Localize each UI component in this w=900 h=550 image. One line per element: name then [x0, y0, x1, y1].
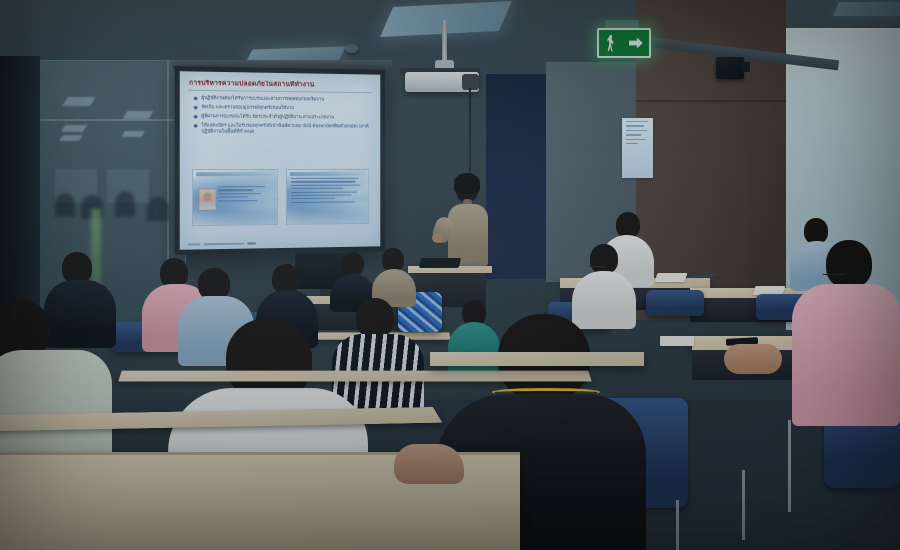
presentation-slide: การบริหารความปลอดภัยในสถานที่ทำงาน ผู้ปฏ… — [180, 71, 381, 250]
table-midground-center — [118, 371, 592, 382]
table-midground-right — [430, 352, 644, 366]
doc-line — [218, 193, 261, 194]
doc-text-lines — [291, 178, 364, 205]
slide-bullet-item: จัดเก็บ และตรวจสอบอุปกรณ์ทุกครั้งก่อนใช้… — [194, 104, 371, 111]
presenter-hand — [432, 233, 443, 243]
glasses-icon — [588, 262, 606, 267]
chair-leg-1 — [676, 500, 679, 550]
classroom-photo: การบริหารความปลอดภัยในสถานที่ทำงาน ผู้ปฏ… — [0, 0, 900, 550]
glass-reflection-light-3 — [59, 135, 82, 141]
chair-leg-3 — [788, 420, 791, 512]
slide-bullet-text: จัดเก็บ และตรวจสอบอุปกรณ์ทุกครั้งก่อนใช้… — [201, 104, 294, 111]
running-person-icon — [605, 35, 616, 52]
doc-line — [291, 194, 351, 196]
attendee-head — [590, 244, 618, 274]
poster-line — [626, 130, 647, 131]
slide-footer — [188, 242, 256, 245]
doc-line — [291, 198, 335, 200]
bullet-marker-icon — [194, 105, 198, 109]
glass-reflected-figure-1 — [55, 193, 75, 217]
attendee-hand-foreground — [394, 444, 464, 488]
poster-line — [626, 134, 641, 135]
doc-line — [218, 196, 248, 197]
slide-bullet-item: ผู้ที่ผ่านการอบรมจะได้รับ บัตรประจำตัวผู… — [194, 113, 371, 120]
attendee-hand-right — [724, 344, 782, 378]
slide-title: การบริหารความปลอดภัยในสถานที่ทำงาน — [189, 80, 372, 91]
glass-reflection-light-1 — [62, 97, 95, 106]
slide-footer-mark — [203, 243, 244, 246]
doc-line — [218, 200, 257, 202]
bullet-marker-icon — [194, 124, 198, 128]
notice-poster — [622, 118, 653, 178]
smoke-detector-icon — [345, 44, 358, 53]
glass-reflection-light-4 — [123, 111, 154, 119]
slide-certificate-image — [286, 169, 369, 225]
slide-title-divider — [188, 90, 372, 94]
arrow-right-icon — [629, 37, 643, 50]
poster-line — [626, 121, 648, 122]
slide-bullet-list: ผู้ปฏิบัติงานต้องได้รับการอบรมและผ่านการ… — [194, 95, 371, 138]
presenter-hair — [454, 173, 480, 193]
ceiling-light-4 — [833, 2, 900, 16]
hand — [724, 344, 782, 374]
poster-line — [626, 143, 638, 144]
bullet-marker-icon — [194, 96, 198, 100]
hand — [394, 444, 464, 484]
laptop-on-lectern — [419, 258, 461, 268]
doc-line — [218, 186, 266, 187]
wall-speaker-icon — [716, 57, 744, 79]
attendee-torso — [792, 284, 900, 426]
slide-bullet-item: ผู้ปฏิบัติงานต้องได้รับการอบรมและผ่านการ… — [194, 95, 371, 103]
slide-footer-mark — [247, 242, 256, 244]
emergency-exit-sign — [597, 28, 651, 58]
glass-reflected-figure-3 — [115, 191, 135, 217]
glass-reflection-light-2 — [61, 125, 87, 132]
glasses-icon — [822, 270, 846, 275]
doc-line — [218, 190, 254, 191]
slide-id-card-image — [192, 169, 278, 226]
doc-line — [291, 188, 342, 189]
poster-line — [626, 139, 646, 140]
doc-line — [291, 201, 354, 203]
slide-bullet-item: ให้แสดงบัตร และใบรับรองทุกครั้งที่เข้าพื… — [194, 122, 371, 134]
attendee-right-pink-shirt — [792, 240, 900, 425]
bullet-marker-icon — [194, 115, 198, 119]
presenter-torso — [448, 204, 488, 266]
doc-line — [291, 184, 360, 186]
chair-leg-2 — [742, 470, 745, 540]
doc-line — [291, 191, 357, 193]
papers-on-table-1 — [655, 273, 688, 282]
slide-bullet-text: ผู้ปฏิบัติงานต้องได้รับการอบรมและผ่านการ… — [201, 95, 324, 102]
glass-reflection-light-5 — [121, 131, 144, 137]
doc-portrait-photo — [198, 188, 216, 210]
slide-document-images — [192, 169, 369, 226]
doc-line — [291, 178, 358, 179]
projection-screen: การบริหารความปลอดภัยในสถานที่ทำงาน ผู้ปฏ… — [175, 66, 386, 255]
attendee-head — [342, 252, 364, 276]
slide-bullet-text: ผู้ที่ผ่านการอบรมจะได้รับ บัตรประจำตัวผู… — [201, 113, 334, 120]
glass-reflected-figure-4 — [147, 197, 169, 221]
doc-text-lines — [218, 186, 273, 203]
wall-seam — [636, 100, 786, 102]
papers-on-table-3 — [660, 336, 694, 346]
slide-footer-mark — [188, 243, 200, 245]
exit-sign-mount — [605, 20, 639, 28]
doc-line — [291, 181, 355, 182]
poster-line — [626, 125, 644, 126]
slide-bullet-text: ให้แสดงบัตร และใบรับรองทุกครั้งที่เข้าพื… — [201, 122, 370, 134]
chair-back-4 — [646, 290, 704, 316]
attendee-head — [826, 240, 872, 288]
